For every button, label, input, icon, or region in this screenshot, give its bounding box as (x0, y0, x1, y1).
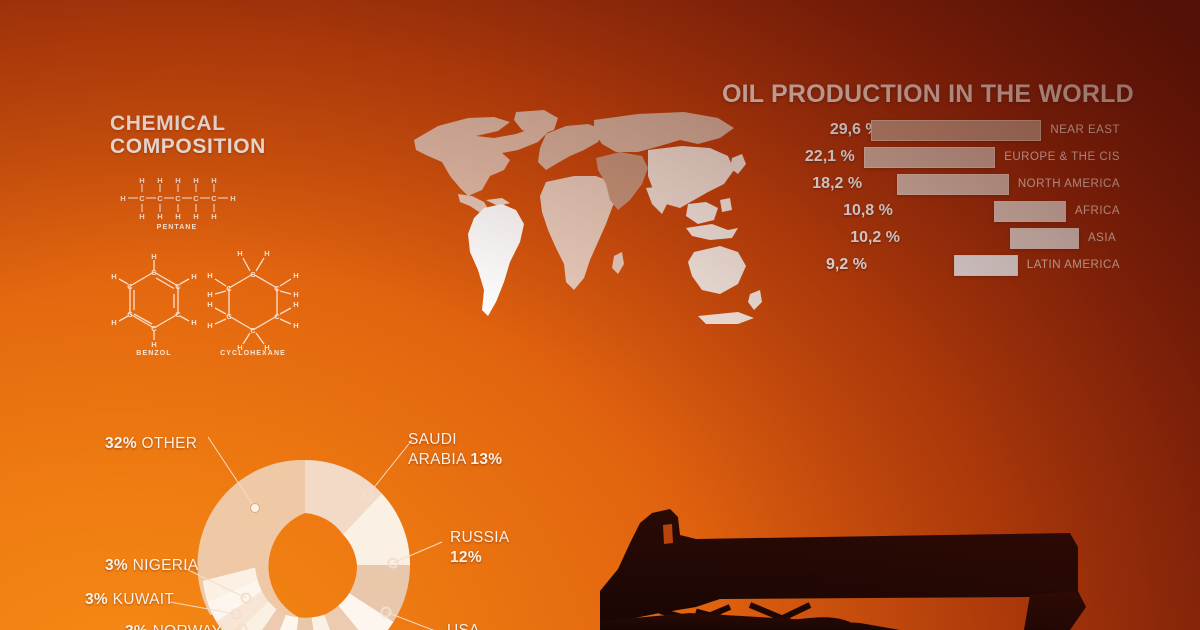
svg-text:H: H (175, 212, 180, 221)
svg-text:H: H (237, 249, 242, 258)
bar-fill (871, 120, 1041, 141)
svg-text:H: H (264, 249, 269, 258)
svg-text:H: H (191, 318, 196, 327)
svg-text:C: C (157, 194, 163, 203)
donut-label-other-pct: 32% (105, 435, 137, 452)
svg-text:H: H (151, 252, 156, 261)
donut-slices (202, 460, 410, 630)
bar-track (876, 255, 1018, 276)
bar-fill (864, 147, 995, 168)
donut-label-saudi-arabia: SAUDI ARABIA 13% (408, 430, 502, 470)
donut-label-saudi-line2: ARABIA (408, 451, 466, 468)
benzol-label: BENZOL (108, 350, 200, 357)
pumpjack-counterweight (1024, 591, 1086, 630)
svg-text:C: C (127, 282, 133, 291)
bar-track (864, 147, 996, 168)
cyclohexane-structure: CCC CCC HH HH HH HH HH HH (198, 244, 308, 352)
svg-text:H: H (211, 212, 216, 221)
donut-label-kuwait: 3% KUWAIT (85, 591, 174, 609)
svg-text:H: H (139, 176, 144, 185)
donut-label-other: 32% OTHER (105, 435, 197, 453)
donut-label-russia-name: RUSSIA (450, 528, 510, 548)
svg-text:H: H (151, 340, 156, 349)
svg-text:C: C (151, 268, 157, 277)
chemical-heading-line-2: COMPOSITION (110, 135, 370, 158)
pentane-structure: H H CCC CC HHH HH HHH HH (112, 174, 242, 222)
bar-value-label: 22,1 % (700, 148, 864, 166)
svg-text:H: H (207, 321, 212, 330)
svg-text:H: H (111, 272, 116, 281)
donut-label-russia-pct: 12% (450, 549, 482, 566)
donut-label-russia: RUSSIA 12% (450, 528, 510, 568)
svg-text:H: H (293, 321, 298, 330)
bar-category-label: NORTH AMERICA (1009, 178, 1120, 190)
donut-label-nigeria-pct: 3% (105, 557, 128, 574)
svg-text:H: H (120, 194, 125, 203)
bar-fill (1010, 228, 1079, 249)
bar-track (889, 120, 1042, 141)
svg-text:C: C (175, 310, 181, 319)
svg-text:C: C (127, 310, 133, 319)
bar-fill (897, 174, 1009, 195)
pentane-label: PENTANE (112, 224, 242, 231)
bar-value-label: 10,2 % (700, 229, 909, 247)
donut-label-norway-pct: 3% (125, 623, 148, 630)
svg-text:C: C (151, 324, 157, 333)
map-region-new-zealand (748, 290, 762, 310)
pumpjack-head-slot (663, 524, 673, 544)
map-region-caribbean (486, 198, 510, 206)
callout-dot-other (251, 504, 260, 513)
svg-text:H: H (193, 212, 198, 221)
molecule-benzol: CCC CCC HH HH HH BENZOL (108, 250, 200, 358)
bar-value-label: 18,2 % (700, 175, 871, 193)
bar-value-label: 9,2 % (700, 256, 876, 274)
donut-label-saudi-line1: SAUDI (408, 430, 502, 450)
bar-row: 18,2 % NORTH AMERICA (700, 173, 1120, 195)
donut-label-kuwait-name: KUWAIT (113, 591, 175, 608)
bar-row: 29,6 % NEAR EAST (700, 119, 1120, 141)
bar-row: 10,8 % AFRICA (700, 200, 1120, 222)
bar-fill (994, 201, 1066, 222)
bar-category-label: ASIA (1079, 232, 1116, 244)
svg-text:C: C (175, 282, 181, 291)
svg-text:H: H (293, 271, 298, 280)
donut-label-norway: 3% NORWAY (125, 623, 222, 630)
svg-text:C: C (211, 194, 217, 203)
svg-text:C: C (250, 326, 256, 335)
map-region-antarctica-sliver (698, 312, 754, 324)
bar-category-label: NEAR EAST (1041, 124, 1120, 136)
map-region-latin-america (468, 204, 524, 316)
svg-text:H: H (193, 176, 198, 185)
svg-text:H: H (175, 176, 180, 185)
pumpjack-illustration (600, 495, 1200, 630)
bar-value-label: 29,6 % (700, 121, 889, 139)
cyclohexane-label: CYCLOHEXANE (198, 350, 308, 357)
bar-category-label: EUROPE & THE CIS (995, 151, 1120, 163)
map-region-africa (540, 176, 618, 290)
svg-text:H: H (207, 290, 212, 299)
donut-label-nigeria: 3% NIGERIA (105, 557, 198, 575)
bar-row: 10,2 % ASIA (700, 227, 1120, 249)
svg-text:H: H (157, 176, 162, 185)
oil-production-chart: OIL PRODUCTION IN THE WORLD 29,6 % NEAR … (700, 80, 1120, 276)
infographic-canvas: CHEMICAL COMPOSITION (0, 0, 1200, 630)
donut-label-other-name: OTHER (142, 435, 198, 452)
svg-text:H: H (157, 212, 162, 221)
svg-text:C: C (250, 270, 256, 279)
chemical-composition-heading: CHEMICAL COMPOSITION (110, 112, 370, 158)
oil-reserves-donut-chart: 32% OTHER SAUDI ARABIA 13% RUSSIA 12% US… (150, 410, 570, 630)
bar-category-label: LATIN AMERICA (1018, 259, 1120, 271)
chart-title: OIL PRODUCTION IN THE WORLD (722, 80, 1120, 109)
svg-text:H: H (191, 272, 196, 281)
svg-text:H: H (139, 212, 144, 221)
svg-text:H: H (207, 300, 212, 309)
chemical-composition-section: CHEMICAL COMPOSITION (110, 112, 370, 158)
svg-text:H: H (293, 290, 298, 299)
svg-text:C: C (226, 312, 232, 321)
bar-list: 29,6 % NEAR EAST 22,1 % EUROPE & THE CIS… (700, 119, 1120, 276)
donut-label-kuwait-pct: 3% (85, 591, 108, 608)
bar-value-label: 10,8 % (700, 202, 902, 220)
svg-text:C: C (274, 312, 280, 321)
molecule-pentane: H H CCC CC HHH HH HHH HH PENTANE (112, 174, 242, 232)
bar-fill (954, 255, 1018, 276)
donut-label-usa: USA (447, 622, 480, 630)
bar-row: 9,2 % LATIN AMERICA (700, 254, 1120, 276)
svg-text:C: C (193, 194, 199, 203)
svg-text:C: C (139, 194, 145, 203)
pumpjack-silhouette (600, 495, 1200, 630)
donut-svg (150, 410, 570, 630)
map-region-madagascar (612, 252, 624, 274)
donut-label-usa-name: USA (447, 622, 480, 630)
svg-text:H: H (230, 194, 235, 203)
svg-text:C: C (175, 194, 181, 203)
molecule-cyclohexane: CCC CCC HH HH HH HH HH HH CYCLOHEXANE (198, 244, 308, 358)
bar-track (871, 174, 1009, 195)
svg-text:H: H (207, 271, 212, 280)
bar-track (902, 201, 1066, 222)
bar-category-label: AFRICA (1066, 205, 1120, 217)
svg-text:H: H (111, 318, 116, 327)
chemical-heading-line-1: CHEMICAL (110, 112, 370, 135)
svg-text:H: H (211, 176, 216, 185)
benzol-structure: CCC CCC HH HH HH (108, 250, 200, 350)
svg-text:C: C (226, 284, 232, 293)
donut-label-nigeria-name: NIGERIA (133, 557, 199, 574)
bar-row: 22,1 % EUROPE & THE CIS (700, 146, 1120, 168)
bar-track (909, 228, 1079, 249)
svg-text:H: H (293, 300, 298, 309)
donut-label-norway-name: NORWAY (153, 623, 223, 630)
donut-label-saudi-pct: 13% (470, 451, 502, 468)
svg-text:C: C (274, 284, 280, 293)
